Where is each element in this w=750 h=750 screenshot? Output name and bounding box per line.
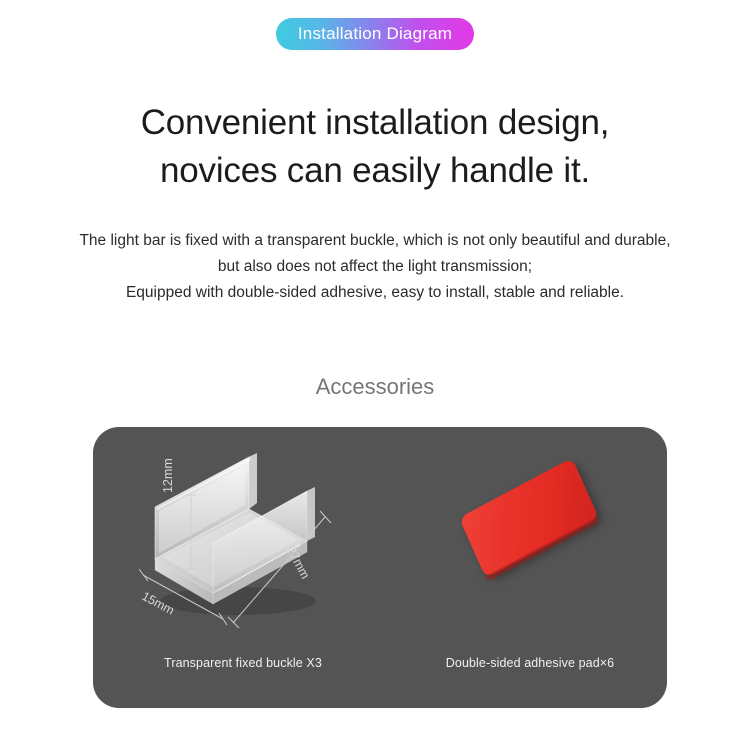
accessory-caption-adhesive-pad: Double-sided adhesive pad×6 — [393, 656, 667, 670]
dimension-label-height: 12mm — [161, 458, 175, 493]
description-line-2: but also does not affect the light trans… — [0, 254, 750, 280]
accessory-item-adhesive-pad: Double-sided adhesive pad×6 — [393, 427, 667, 708]
accessory-item-buckle: 12mm 15mm 27mm Transparent fixed buckle … — [93, 427, 393, 708]
headline-line-1: Convenient installation design, — [141, 103, 610, 142]
description-line-3: Equipped with double-sided adhesive, eas… — [0, 280, 750, 306]
adhesive-pad-icon — [459, 458, 599, 579]
buckle-illustration: 12mm 15mm 27mm — [93, 441, 393, 631]
buckle-icon — [93, 441, 393, 631]
badge-row: Installation Diagram — [0, 18, 750, 50]
description-paragraph: The light bar is fixed with a transparen… — [0, 228, 750, 306]
adhesive-pad-edge — [485, 516, 600, 582]
page-title: Convenient installation design, novices … — [0, 99, 750, 195]
installation-diagram-badge: Installation Diagram — [276, 18, 474, 50]
description-line-1: The light bar is fixed with a transparen… — [0, 228, 750, 254]
headline-line-2: novices can easily handle it. — [0, 147, 750, 195]
accessories-heading: Accessories — [0, 374, 750, 400]
adhesive-pad-illustration — [393, 441, 667, 631]
accessory-caption-buckle: Transparent fixed buckle X3 — [93, 656, 393, 670]
accessories-panel: 12mm 15mm 27mm Transparent fixed buckle … — [93, 427, 667, 708]
